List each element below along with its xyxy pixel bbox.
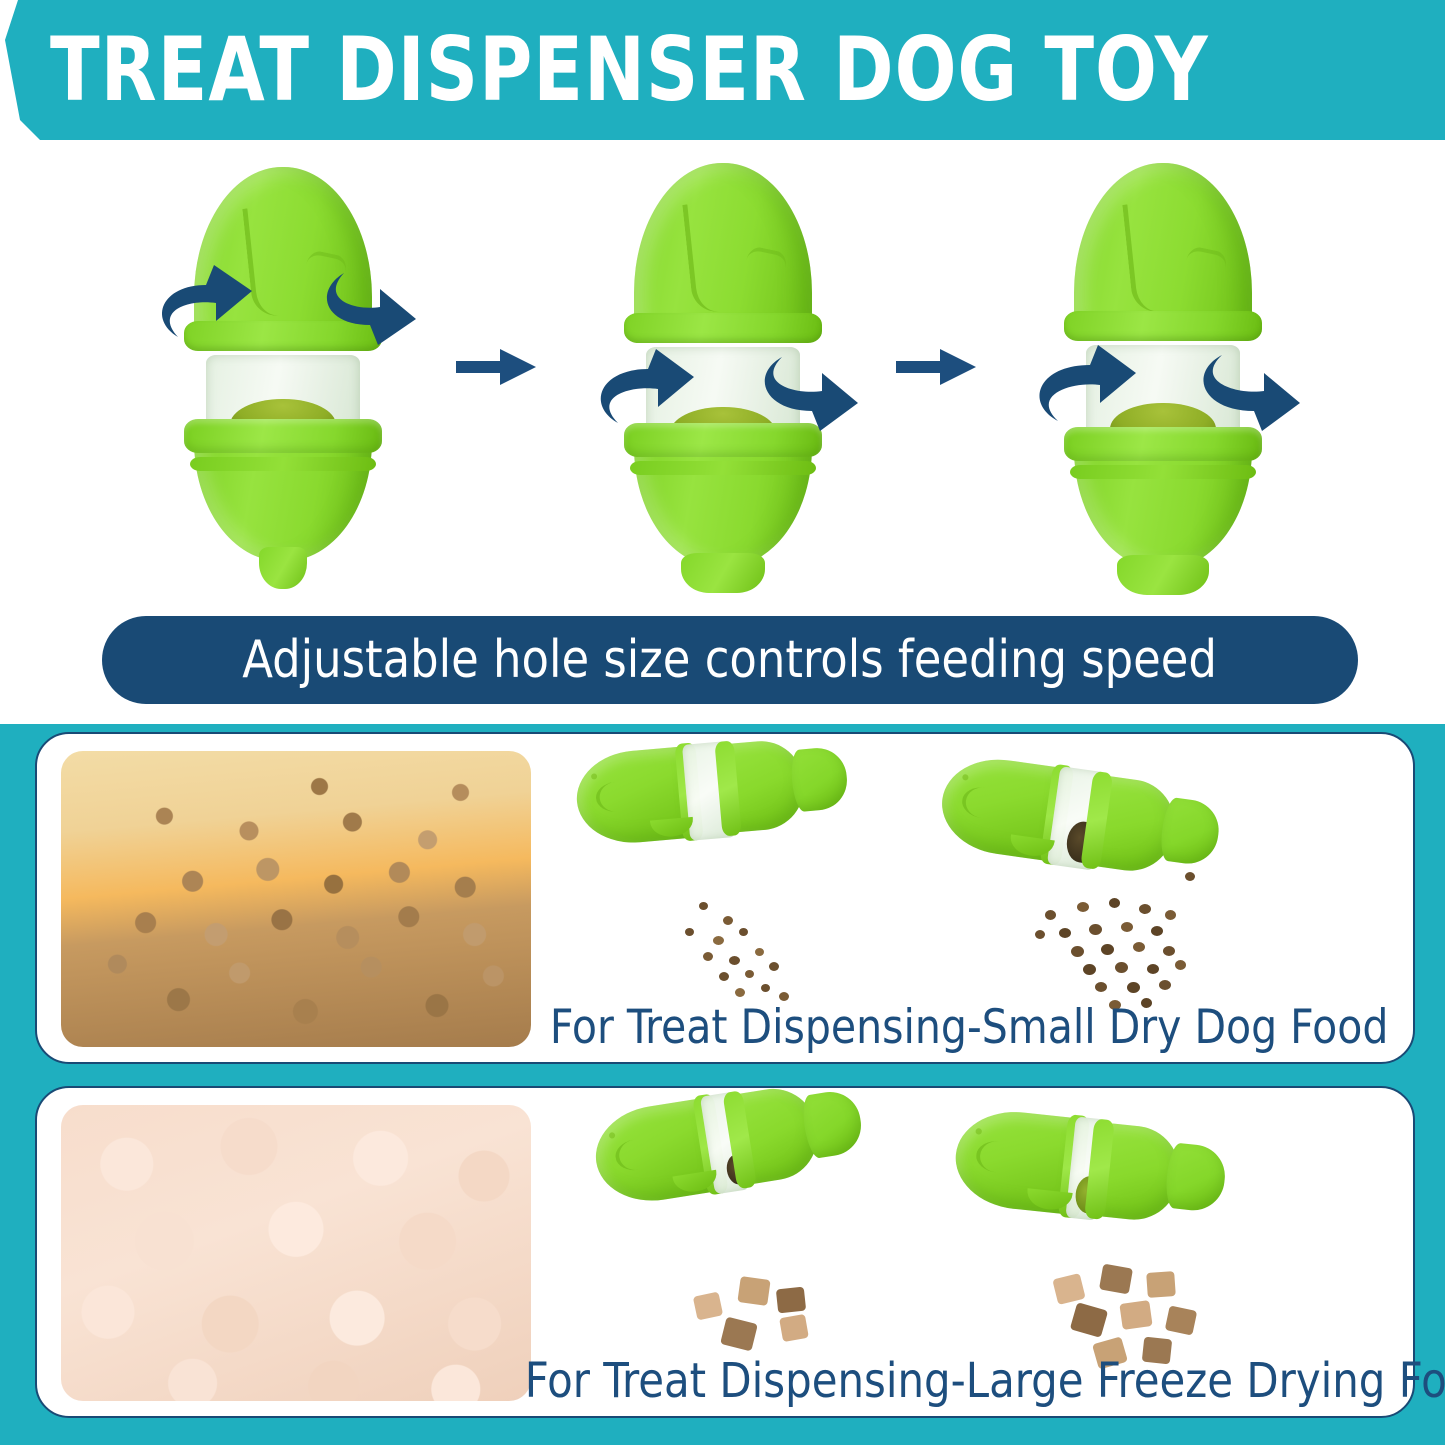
dry-kibble-photo — [61, 751, 531, 1047]
fish-toy-large-hole — [949, 752, 1279, 1002]
step-toy-closed — [118, 155, 448, 585]
fin-mark-secondary-icon — [743, 245, 788, 283]
toy-fully-open-illustration — [1058, 163, 1268, 578]
toy-tail — [1117, 555, 1209, 595]
info-card-small-dry-dog-food: For Treat Dispensing-Small Dry Dog Food — [35, 732, 1415, 1064]
fin-mark-icon — [242, 206, 283, 319]
fin-mark-secondary-icon — [303, 249, 348, 287]
toy-translucent-band — [206, 355, 360, 429]
toy-body — [634, 425, 812, 567]
feature-pill-text: Adjustable hole size controls feeding sp… — [243, 630, 1218, 690]
step-separator-2 — [888, 155, 998, 585]
fish-gill-icon — [613, 1137, 658, 1173]
fin-mark-icon — [1122, 202, 1163, 315]
toy-closed-illustration — [178, 163, 388, 578]
toy-half-open-illustration — [618, 163, 828, 578]
step-separator-1 — [448, 155, 558, 585]
fish-eye-icon — [609, 1132, 616, 1139]
fish-tail — [789, 746, 849, 813]
feature-pill: Adjustable hole size controls feeding sp… — [102, 616, 1358, 704]
fish-eye-icon — [591, 773, 597, 779]
card-label-small-dry-dog-food: For Treat Dispensing-Small Dry Dog Food — [550, 1003, 1384, 1052]
fish-eye-icon — [975, 1128, 982, 1135]
step-toy-half-open — [558, 155, 888, 585]
fish-gill-icon — [960, 785, 1005, 821]
toy-head — [194, 167, 372, 349]
fish-tail — [1158, 796, 1223, 867]
header-banner: TREAT DISPENSER DOG TOY — [0, 0, 1445, 140]
arrow-right-icon — [896, 345, 980, 389]
info-card-large-freeze-drying-food: For Treat Dispensing-Large Freeze Drying… — [35, 1086, 1415, 1418]
toy-tail — [681, 553, 765, 593]
page-title: TREAT DISPENSER DOG TOY — [50, 26, 1209, 114]
fin-mark-icon — [682, 202, 723, 315]
fish-eye-icon — [962, 774, 969, 781]
fish-gill-icon — [595, 780, 637, 813]
fish-toy-small-hole — [573, 756, 903, 1006]
freeze-dried-cubes-photo — [61, 1105, 531, 1401]
toy-body — [1074, 429, 1252, 569]
step-toy-fully-open — [998, 155, 1328, 585]
steps-row — [0, 150, 1445, 590]
toy-tail — [259, 547, 307, 589]
toy-head — [1074, 163, 1252, 339]
fin-mark-secondary-icon — [1183, 245, 1228, 283]
card-label-large-freeze-drying-food: For Treat Dispensing-Large Freeze Drying… — [525, 1356, 1413, 1406]
toy-body — [194, 421, 372, 561]
fish-gill-icon — [975, 1139, 1020, 1174]
fish-toy-closed-hole — [589, 1116, 919, 1366]
fish-toy-open-hole — [961, 1106, 1291, 1356]
fish-tail — [1164, 1142, 1228, 1213]
arrow-right-icon — [456, 345, 540, 389]
toy-head — [634, 163, 812, 341]
